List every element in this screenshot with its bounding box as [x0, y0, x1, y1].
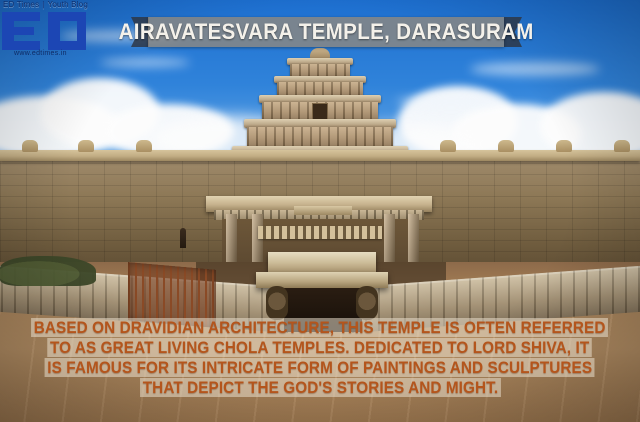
tower-tier — [247, 127, 393, 147]
watermark-tagline: Youth Blog — [48, 0, 88, 9]
watermark-brand: ED Times — [3, 0, 39, 9]
stone-platform-upper — [268, 252, 376, 274]
ed-logo-mark — [2, 12, 90, 50]
wall-finial — [556, 140, 572, 152]
shrub — [0, 256, 96, 286]
chariot-wheel — [266, 286, 288, 320]
caption-line: IS FAMOUS FOR ITS INTRICATE FORM OF PAIN… — [45, 358, 595, 377]
watermark-brand-line: ED Times|Youth Blog — [3, 0, 88, 9]
watermark-logo[interactable]: ED Times|Youth Blog www.edtimes.in — [0, 0, 100, 66]
cloud-wisp — [100, 58, 190, 67]
chariot-wheel — [356, 286, 378, 320]
wall-finial — [22, 140, 38, 152]
wall-finial — [78, 140, 94, 152]
wall-finial — [440, 140, 456, 152]
caption-line: TO AS GREAT LIVING CHOLA TEMPLES. DEDICA… — [48, 338, 593, 357]
caption-line: BASED ON DRAVIDIAN ARCHITECTURE, THIS TE… — [31, 318, 608, 337]
porch-balustrade — [258, 226, 382, 239]
porch-lintel — [294, 206, 352, 215]
screenshot-image: ED Times|Youth Blog www.edtimes.in AIRAV… — [0, 0, 640, 422]
wall-finial — [614, 140, 630, 152]
title-banner: AIRAVATESVARA TEMPLE, DARASURAM — [148, 17, 504, 47]
cloud-wisp — [396, 96, 506, 106]
wall-finial — [136, 140, 152, 152]
caption-block: BASED ON DRAVIDIAN ARCHITECTURE, THIS TE… — [0, 318, 640, 397]
wall-coping — [0, 150, 640, 161]
page-title: AIRAVATESVARA TEMPLE, DARASURAM — [118, 21, 533, 43]
vimana-tower — [232, 56, 408, 160]
person-figure — [180, 228, 186, 248]
tower-tier — [277, 82, 363, 96]
watermark-separator: | — [39, 0, 47, 9]
watermark-url: www.edtimes.in — [14, 50, 67, 57]
wall-finial — [498, 140, 514, 152]
cloud-wisp — [470, 62, 600, 76]
caption-line: THAT DEPICT THE GOD'S STORIES AND MIGHT. — [140, 378, 501, 397]
